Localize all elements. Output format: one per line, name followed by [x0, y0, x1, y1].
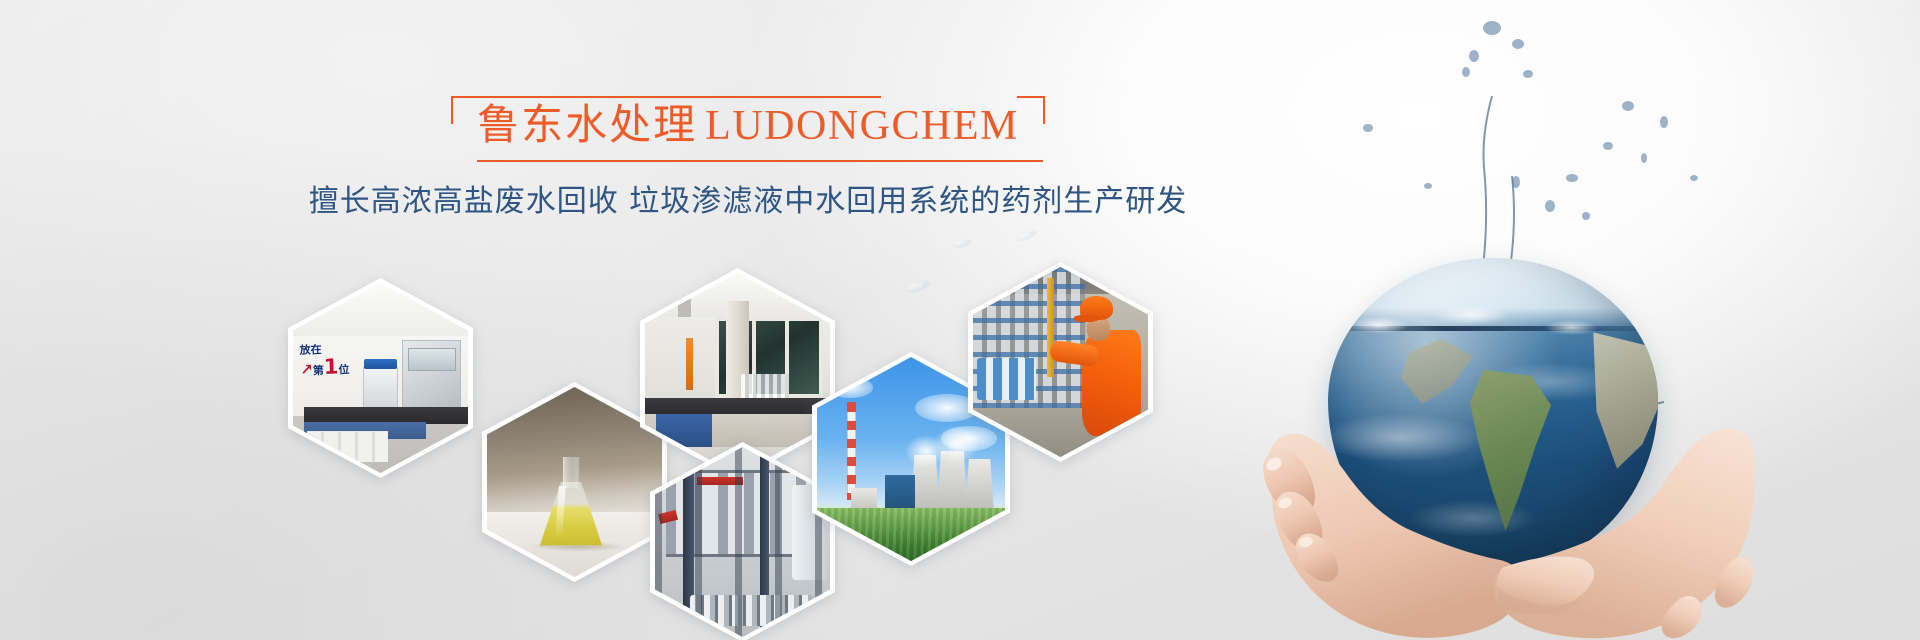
bracket-top-right	[1017, 96, 1045, 124]
photo-lab-room: 放在 ↗第1位	[293, 283, 468, 473]
wall-slogan-line3: 位	[338, 362, 349, 375]
photo-yellow-flask	[487, 387, 662, 577]
subtitle: 擅长高浓高盐废水回收 垃圾渗滤液中水回用系统的药剂生产研发	[258, 182, 1238, 221]
wall-slogan: 放在 ↗第1位	[299, 343, 349, 378]
photo-lab-windows	[645, 273, 830, 475]
bracket-top-left	[451, 96, 881, 124]
earth-water-globe	[1328, 258, 1658, 568]
brand-title-wrapper: 鲁东水处理LUDONGCHEM	[451, 96, 1045, 162]
bracket-bottom-rule	[477, 160, 1043, 162]
wall-slogan-line2: 第	[313, 363, 324, 376]
photo-ro-skid	[655, 447, 830, 637]
hands-holding-globe	[1256, 372, 1756, 640]
hero-banner: 鲁东水处理LUDONGCHEM 擅长高浓高盐废水回收 垃圾渗滤液中水回用系统的药…	[0, 0, 1920, 640]
wall-slogan-arrow: ↗	[300, 360, 313, 378]
wall-slogan-number: 1	[323, 354, 338, 378]
water-splash	[1220, 0, 1780, 430]
wall-slogan-line1: 放在	[299, 343, 321, 357]
water-globe-artwork	[1160, 0, 1920, 640]
headline-block: 鲁东水处理LUDONGCHEM 擅长高浓高盐废水回收 垃圾渗滤液中水回用系统的药…	[258, 96, 1238, 221]
photo-worker	[973, 267, 1148, 457]
